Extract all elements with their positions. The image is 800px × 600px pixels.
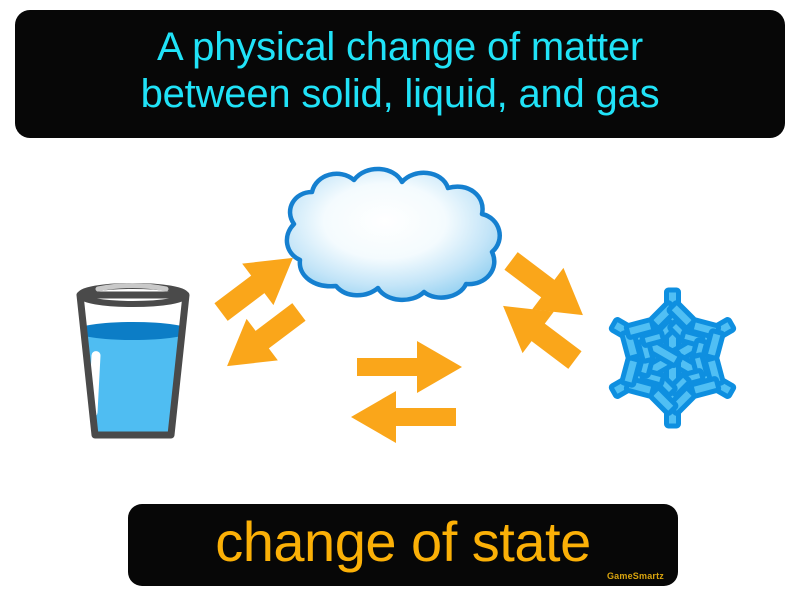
- state-change-diagram: [0, 148, 800, 498]
- definition-banner: A physical change of matter between soli…: [15, 10, 785, 138]
- glass-of-water-icon: [58, 273, 208, 453]
- snowflake-icon: [590, 278, 755, 438]
- term-label-box: change of state GameSmartz: [128, 504, 678, 586]
- arrow-gas-to-liquid: [216, 300, 311, 378]
- definition-line-1: A physical change of matter: [157, 24, 643, 71]
- cloud-icon: [274, 168, 524, 303]
- arrow-solid-to-liquid: [348, 388, 458, 446]
- definition-line-2: between solid, liquid, and gas: [141, 71, 660, 118]
- watermark-gamesmartz: GameSmartz: [607, 571, 664, 581]
- arrow-gas-to-solid: [500, 248, 595, 328]
- term-label: change of state: [215, 514, 590, 576]
- flashcard-stage: A physical change of matter between soli…: [0, 0, 800, 600]
